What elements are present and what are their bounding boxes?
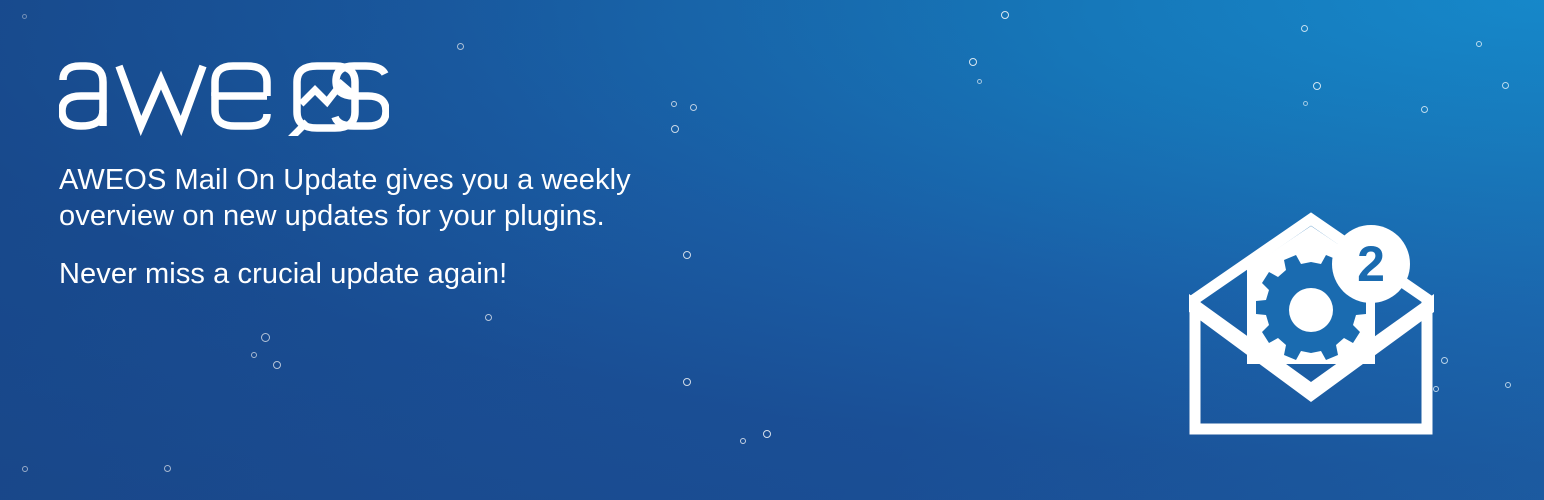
bubble-0 [22,14,27,19]
notification-badge-count: 2 [1357,236,1385,292]
bubble-6 [1001,11,1009,19]
promo-banner: AWEOS Mail On Update gives you a weekly … [0,0,1544,500]
bubble-18 [273,361,281,369]
bubble-5 [969,58,977,66]
bubble-22 [1441,357,1448,364]
bubble-17 [251,352,257,358]
bubble-24 [1505,382,1511,388]
bubble-10 [1303,101,1308,106]
bubble-20 [740,438,746,444]
bubble-7 [977,79,982,84]
bubble-15 [485,314,492,321]
banner-content: AWEOS Mail On Update gives you a weekly … [59,44,759,292]
bubble-8 [1301,25,1308,32]
bubble-25 [164,465,171,472]
bubble-9 [1313,82,1321,90]
bubble-12 [1476,41,1482,47]
bubble-19 [683,378,691,386]
bubble-11 [1421,106,1428,113]
envelope-with-gear-illustration: 2 [1189,214,1434,439]
tagline-primary: AWEOS Mail On Update gives you a weekly … [59,162,699,234]
tagline-secondary: Never miss a crucial update again! [59,256,699,292]
bubble-26 [22,466,28,472]
aweos-logo [59,44,759,136]
notification-badge: 2 [1332,225,1410,303]
bubble-21 [763,430,771,438]
bubble-13 [1502,82,1509,89]
bubble-16 [261,333,270,342]
